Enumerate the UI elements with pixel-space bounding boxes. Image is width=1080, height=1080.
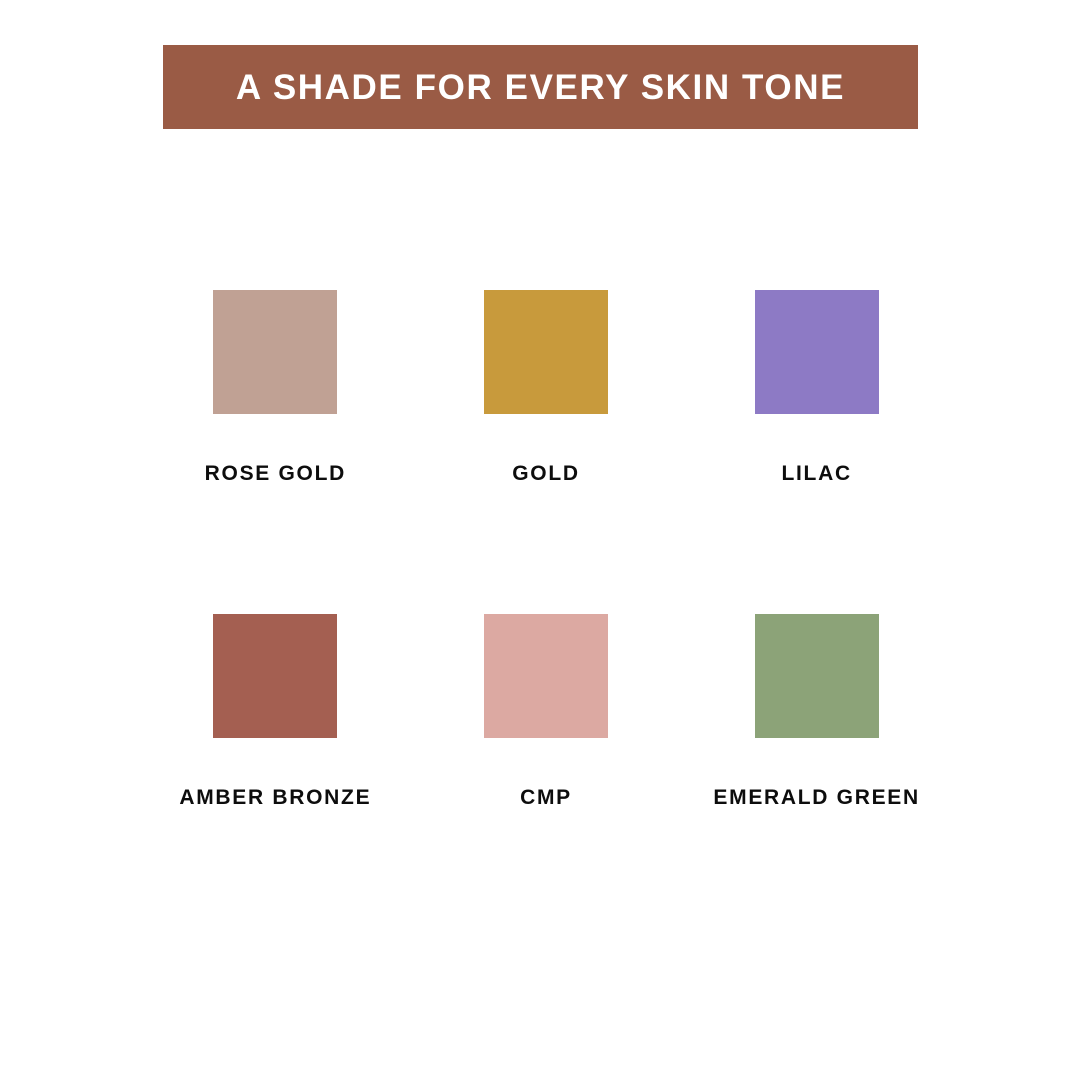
swatch-item[interactable]: EMERALD GREEN <box>681 614 952 808</box>
swatch-label: EMERALD GREEN <box>713 787 919 808</box>
swatch-item[interactable]: ROSE GOLD <box>140 290 411 484</box>
swatch-item[interactable]: LILAC <box>681 290 952 484</box>
color-chip[interactable] <box>755 290 879 414</box>
swatch-item[interactable]: AMBER BRONZE <box>140 614 411 808</box>
color-chip[interactable] <box>213 614 337 738</box>
page-title: A SHADE FOR EVERY SKIN TONE <box>236 70 845 105</box>
swatch-item[interactable]: GOLD <box>411 290 682 484</box>
swatch-label: LILAC <box>781 463 851 484</box>
swatch-label: AMBER BRONZE <box>179 787 371 808</box>
swatch-item[interactable]: CMP <box>411 614 682 808</box>
color-chip[interactable] <box>755 614 879 738</box>
shade-palette-page: A SHADE FOR EVERY SKIN TONE ROSE GOLD GO… <box>0 0 1080 1080</box>
swatch-label: ROSE GOLD <box>205 463 346 484</box>
swatch-label: GOLD <box>512 463 579 484</box>
header-banner: A SHADE FOR EVERY SKIN TONE <box>163 45 918 129</box>
swatch-grid: ROSE GOLD GOLD LILAC AMBER BRONZE CMP EM… <box>140 290 952 808</box>
color-chip[interactable] <box>484 290 608 414</box>
swatch-label: CMP <box>520 787 572 808</box>
color-chip[interactable] <box>213 290 337 414</box>
color-chip[interactable] <box>484 614 608 738</box>
